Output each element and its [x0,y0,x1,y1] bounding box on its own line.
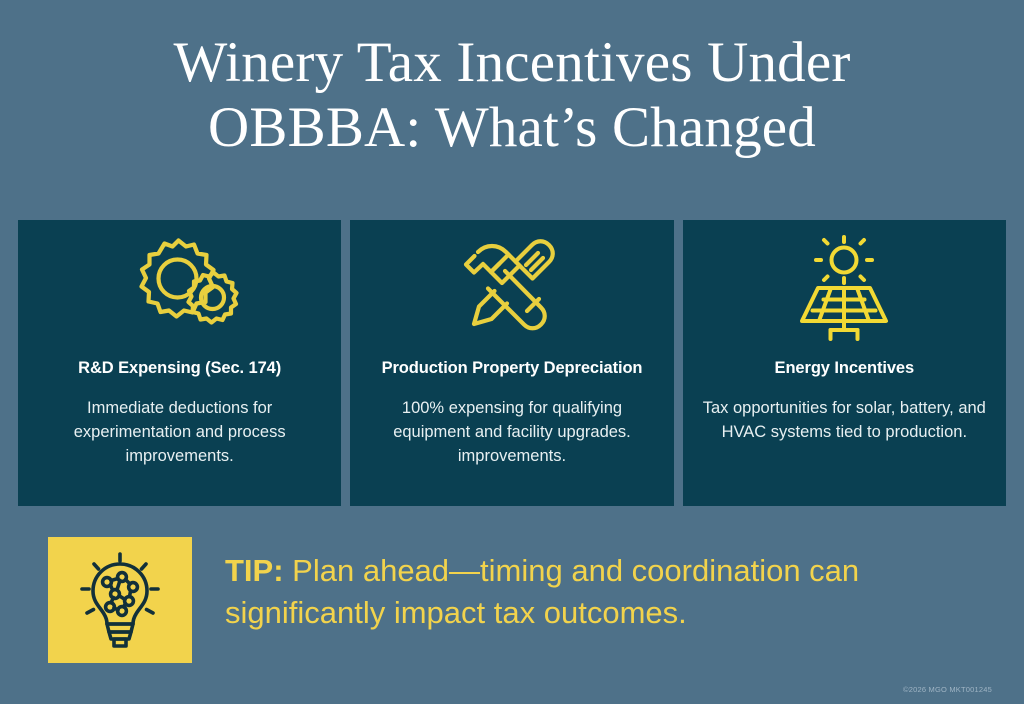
feature-card-energy-incentives: Energy Incentives Tax opportunities for … [683,220,1006,506]
feature-card-production-property-depreciation: Production Property Depreciation 100% ex… [350,220,673,506]
feature-card-title: Energy Incentives [775,358,915,378]
hammer-screwdriver-icon [453,228,571,346]
feature-card-body: 100% expensing for qualifying equipment … [367,396,657,468]
tip-body: Plan ahead—timing and coordination can s… [225,553,859,630]
copyright-notice: ©2026 MGO MKT001245 [903,685,992,694]
tip-text: TIP: Plan ahead—timing and coordination … [225,550,985,634]
gears-icon [121,228,239,346]
feature-card-title: R&D Expensing (Sec. 174) [78,358,281,378]
infographic-canvas: Winery Tax Incentives Under OBBBA: What’… [0,0,1024,704]
tip-icon-box [48,537,192,663]
solar-panel-icon [785,228,903,346]
tip-callout: TIP: Plan ahead—timing and coordination … [48,537,988,663]
feature-card-body: Immediate deductions for experimentation… [35,396,325,468]
tip-label: TIP: [225,553,284,588]
feature-card-rd-expensing: R&D Expensing (Sec. 174) Immediate deduc… [18,220,341,506]
feature-card-title: Production Property Depreciation [382,358,643,378]
feature-card-body: Tax opportunities for solar, battery, an… [699,396,989,444]
page-title-line-2: OBBBA: What’s Changed [0,95,1024,160]
feature-cards-row: R&D Expensing (Sec. 174) Immediate deduc… [18,220,1006,506]
page-title-line-1: Winery Tax Incentives Under [0,30,1024,95]
page-title: Winery Tax Incentives Under OBBBA: What’… [0,30,1024,160]
lightbulb-idea-icon [74,551,166,649]
